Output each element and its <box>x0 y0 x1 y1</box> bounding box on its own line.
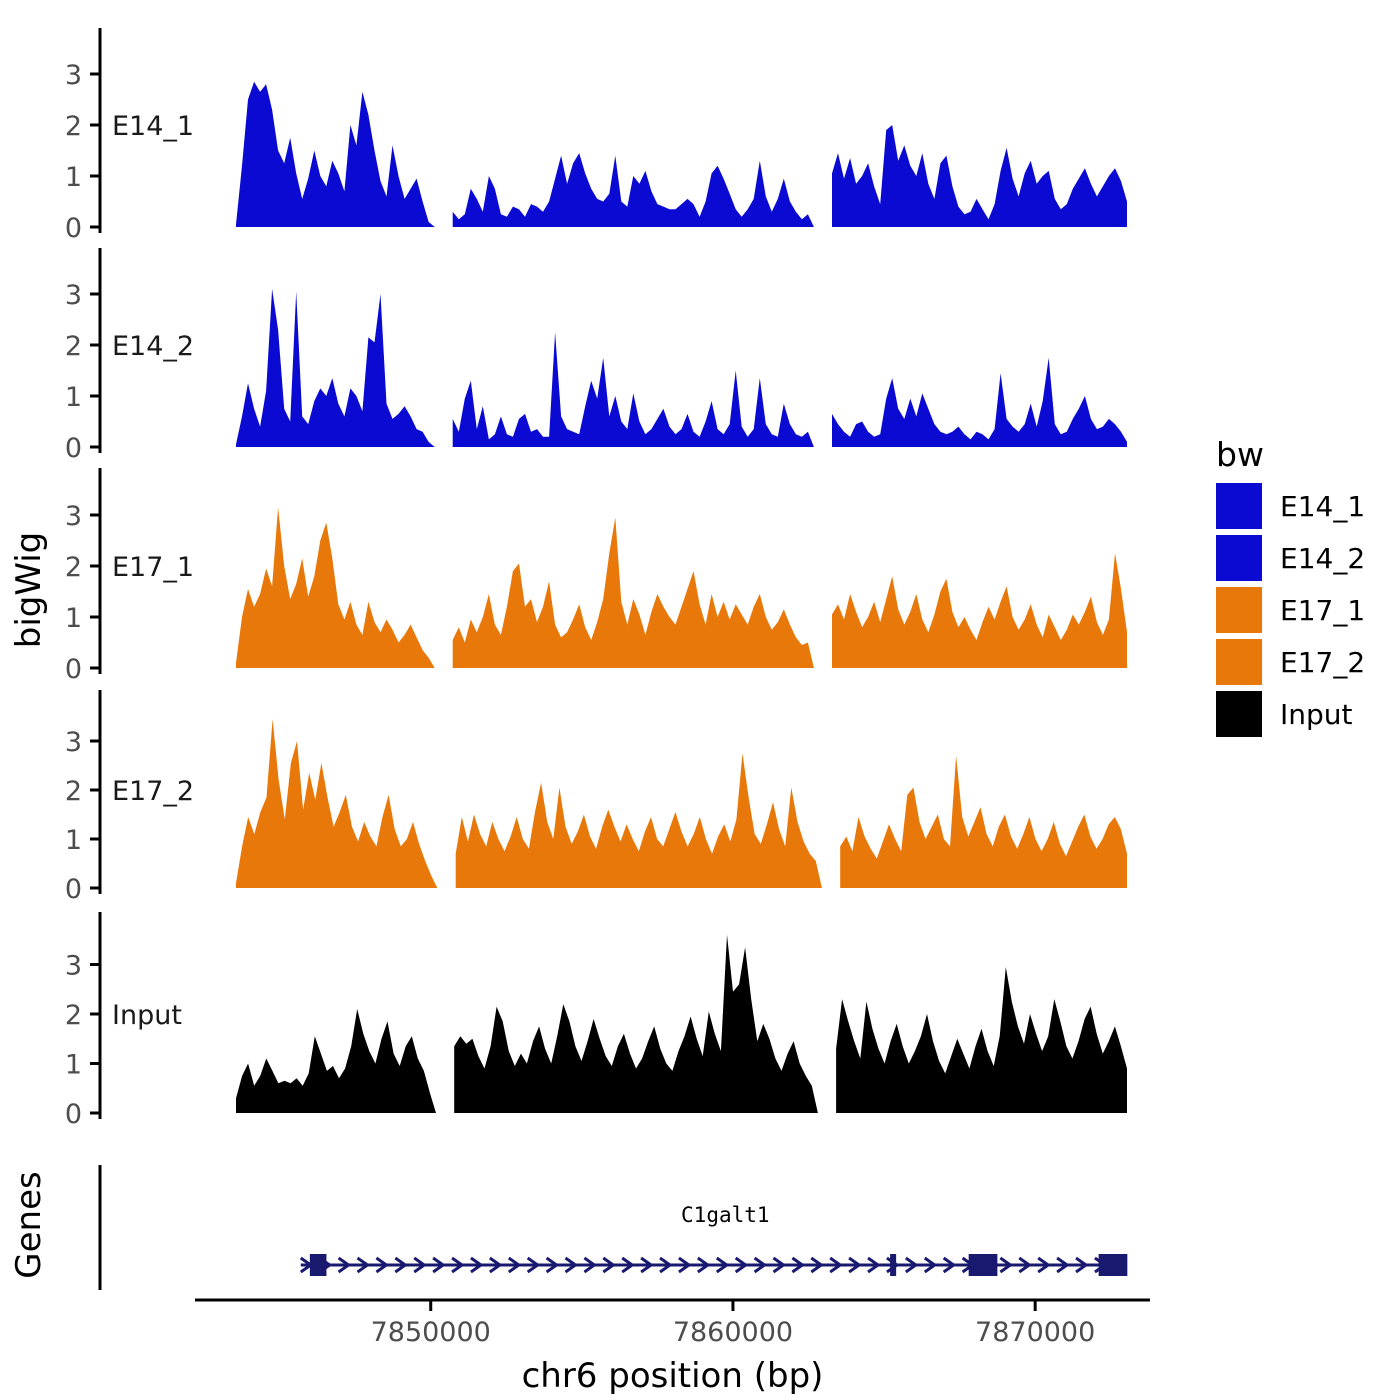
genome-browser-figure: 0123E14_10123E14_20123E17_10123E17_20123… <box>0 0 1400 1400</box>
panel-label-e17_2: E17_2 <box>112 776 194 807</box>
legend-label-e17_1: E17_1 <box>1280 594 1365 627</box>
track-panel-e17_2: 0123E17_2 <box>65 690 1127 905</box>
x-tick-label-7860000: 7860000 <box>673 1317 793 1348</box>
legend: bwE14_1E14_2E17_1E17_2Input <box>1216 435 1365 737</box>
y-tick-label-e14_1-1: 1 <box>65 162 82 193</box>
y-tick-label-e17_1-1: 1 <box>65 603 82 634</box>
y-tick-label-e14_2-1: 1 <box>65 382 82 413</box>
y-tick-label-e14_1-3: 3 <box>65 60 82 91</box>
legend-swatch-e14_1[interactable] <box>1216 483 1262 529</box>
genes-axis-title: Genes <box>9 1171 49 1278</box>
y-tick-label-input-3: 3 <box>65 951 82 982</box>
y-tick-label-e17_2-2: 2 <box>65 776 82 807</box>
legend-label-e14_2: E14_2 <box>1280 542 1365 575</box>
y-tick-label-e17_1-3: 3 <box>65 501 82 532</box>
track-panel-e17_1: 0123E17_1 <box>65 468 1127 685</box>
legend-swatch-e14_2[interactable] <box>1216 535 1262 581</box>
legend-label-e14_1: E14_1 <box>1280 490 1365 523</box>
x-axis-title: chr6 position (bp) <box>522 1356 824 1396</box>
coverage-area-e17_1 <box>236 507 1127 668</box>
figure-canvas: 0123E14_10123E14_20123E17_10123E17_20123… <box>0 0 1400 1400</box>
y-tick-label-input-2: 2 <box>65 1000 82 1031</box>
gene-exon-block <box>310 1254 327 1276</box>
panel-label-input: Input <box>112 1000 182 1031</box>
track-panel-e14_2: 0123E14_2 <box>65 248 1127 464</box>
gene-exon-block <box>1099 1254 1128 1276</box>
y-tick-label-e14_2-0: 0 <box>65 433 82 464</box>
legend-swatch-input[interactable] <box>1216 691 1262 737</box>
y-tick-label-e17_2-0: 0 <box>65 874 82 905</box>
y-tick-label-input-0: 0 <box>65 1099 82 1130</box>
coverage-area-e14_2 <box>236 289 1127 447</box>
track-panel-e14_1: 0123E14_1 <box>65 28 1127 244</box>
legend-label-input: Input <box>1280 698 1353 731</box>
y-tick-label-e17_2-3: 3 <box>65 727 82 758</box>
panel-label-e14_1: E14_1 <box>112 111 194 142</box>
gene-name-label: C1galt1 <box>681 1203 770 1227</box>
y-tick-label-e14_2-2: 2 <box>65 331 82 362</box>
genes-track: C1galt1 <box>100 1165 1127 1290</box>
legend-swatch-e17_1[interactable] <box>1216 587 1262 633</box>
track-panel-input: 0123Input <box>65 912 1127 1130</box>
panel-label-e14_2: E14_2 <box>112 331 194 362</box>
y-axis-title: bigWig <box>9 532 49 649</box>
legend-title: bw <box>1216 435 1264 474</box>
x-axis: 785000078600007870000chr6 position (bp) <box>195 1300 1150 1396</box>
y-tick-label-e14_2-3: 3 <box>65 280 82 311</box>
y-tick-label-e14_1-0: 0 <box>65 213 82 244</box>
gene-exon-block <box>890 1254 896 1276</box>
x-tick-label-7850000: 7850000 <box>371 1317 491 1348</box>
y-tick-label-e14_1-2: 2 <box>65 111 82 142</box>
gene-exon-block <box>969 1254 998 1276</box>
legend-label-e17_2: E17_2 <box>1280 646 1365 679</box>
coverage-area-e17_2 <box>236 719 1127 888</box>
x-tick-label-7870000: 7870000 <box>975 1317 1095 1348</box>
legend-swatch-e17_2[interactable] <box>1216 639 1262 685</box>
y-tick-label-e17_1-0: 0 <box>65 654 82 685</box>
coverage-area-e14_1 <box>236 82 1127 227</box>
coverage-area-input <box>236 935 1127 1113</box>
y-tick-label-input-1: 1 <box>65 1050 82 1081</box>
y-tick-label-e17_1-2: 2 <box>65 552 82 583</box>
y-tick-label-e17_2-1: 1 <box>65 825 82 856</box>
panel-label-e17_1: E17_1 <box>112 552 194 583</box>
